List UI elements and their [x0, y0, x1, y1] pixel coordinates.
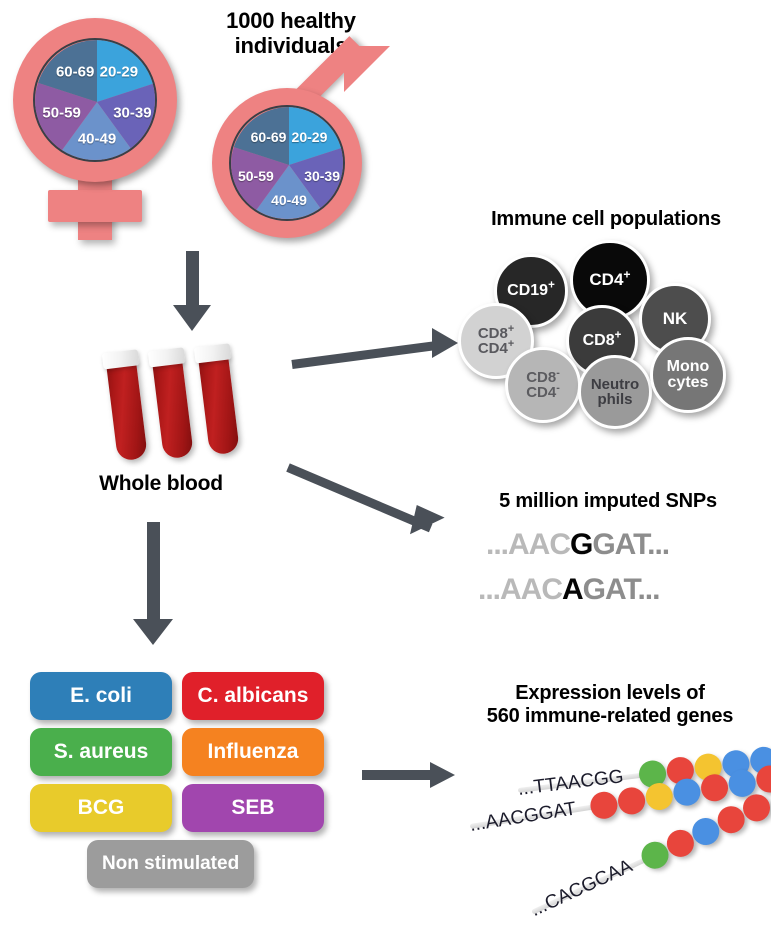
expression-strands: ...TTAACGG...AACGGAT...CACGCAA — [0, 0, 771, 922]
expression-bead — [643, 781, 674, 812]
expression-bead — [699, 772, 730, 803]
expression-bead — [616, 785, 647, 816]
strand-sequence: ...AACGGAT — [468, 798, 577, 837]
strand-sequence: ...CACGCAA — [527, 856, 636, 922]
expression-bead — [671, 776, 702, 807]
expression-bead — [588, 789, 619, 820]
